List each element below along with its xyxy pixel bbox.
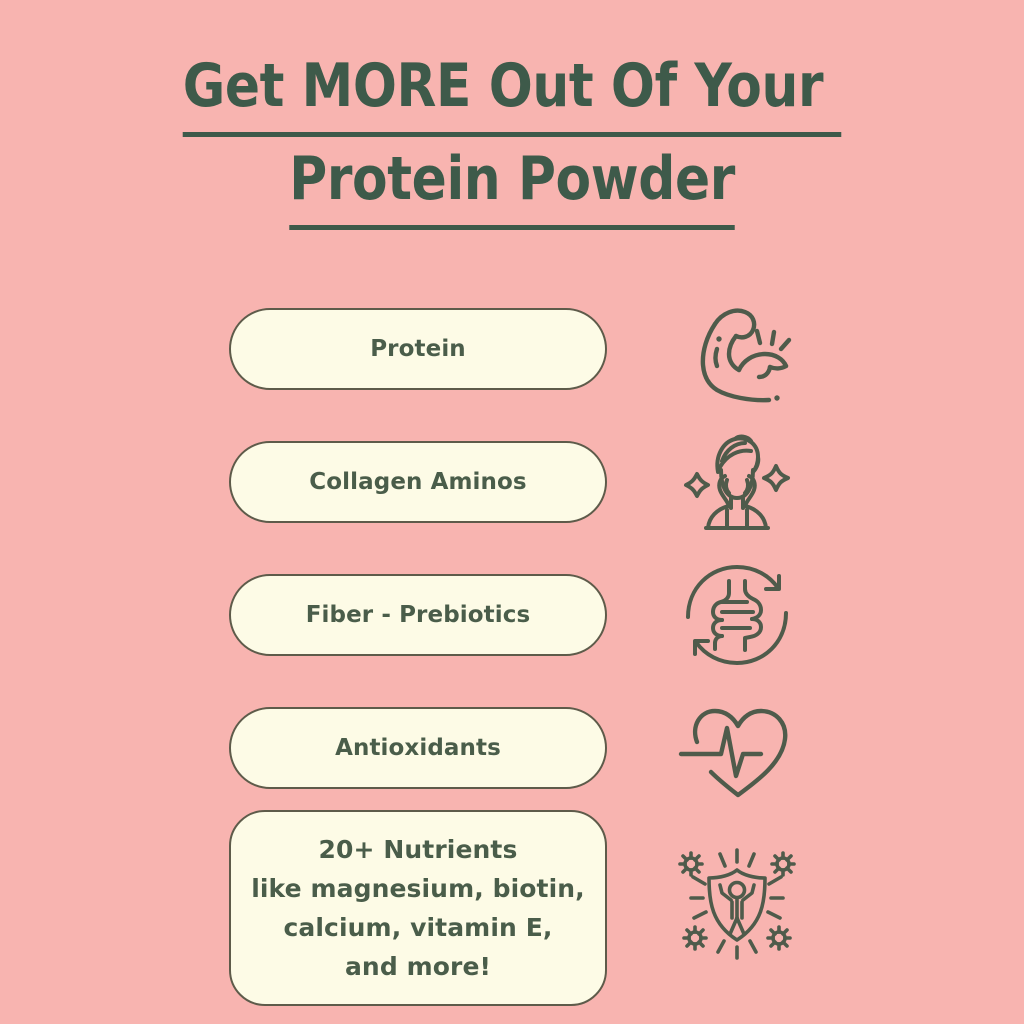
nutrients-line-4: and more! bbox=[345, 947, 491, 986]
page-title-line-1-text: Get MORE Out Of Your bbox=[183, 44, 841, 137]
poster-canvas: Get MORE Out Of Your Protein Powder Prot… bbox=[0, 0, 1024, 1024]
glowing-skin-woman-icon bbox=[667, 412, 807, 552]
benefit-pill-collagen[interactable]: Collagen Aminos bbox=[229, 441, 607, 523]
heart-pulse-icon bbox=[667, 678, 807, 818]
benefit-row-fiber: Fiber - Prebiotics bbox=[229, 545, 829, 685]
page-title-line-2-text: Protein Powder bbox=[289, 137, 735, 230]
benefit-row-collagen: Collagen Aminos bbox=[229, 412, 829, 552]
gut-digestion-cycle-icon bbox=[667, 545, 807, 685]
benefit-card-nutrients[interactable]: 20+ Nutrients like magnesium, biotin, ca… bbox=[229, 810, 607, 1006]
benefit-pill-antioxidants[interactable]: Antioxidants bbox=[229, 707, 607, 789]
benefit-label-protein: Protein bbox=[370, 336, 466, 362]
nutrients-line-3: calcium, vitamin E, bbox=[284, 908, 553, 947]
benefit-pill-protein[interactable]: Protein bbox=[229, 308, 607, 390]
nutrients-line-2: like magnesium, biotin, bbox=[251, 869, 585, 908]
benefit-row-nutrients: 20+ Nutrients like magnesium, biotin, ca… bbox=[229, 810, 829, 1006]
flexed-bicep-icon bbox=[667, 279, 807, 419]
benefit-label-fiber: Fiber - Prebiotics bbox=[306, 602, 531, 628]
immunity-shield-icon bbox=[667, 838, 807, 978]
benefit-label-collagen: Collagen Aminos bbox=[309, 469, 526, 495]
page-title: Get MORE Out Of Your Protein Powder bbox=[0, 44, 1024, 230]
benefit-label-antioxidants: Antioxidants bbox=[335, 735, 501, 761]
benefit-pill-fiber[interactable]: Fiber - Prebiotics bbox=[229, 574, 607, 656]
page-title-line-2: Protein Powder bbox=[0, 137, 1024, 230]
benefit-row-protein: Protein bbox=[229, 279, 829, 419]
nutrients-line-1: 20+ Nutrients bbox=[319, 830, 518, 869]
benefit-row-antioxidants: Antioxidants bbox=[229, 678, 829, 818]
page-title-line-1: Get MORE Out Of Your bbox=[0, 44, 1024, 137]
